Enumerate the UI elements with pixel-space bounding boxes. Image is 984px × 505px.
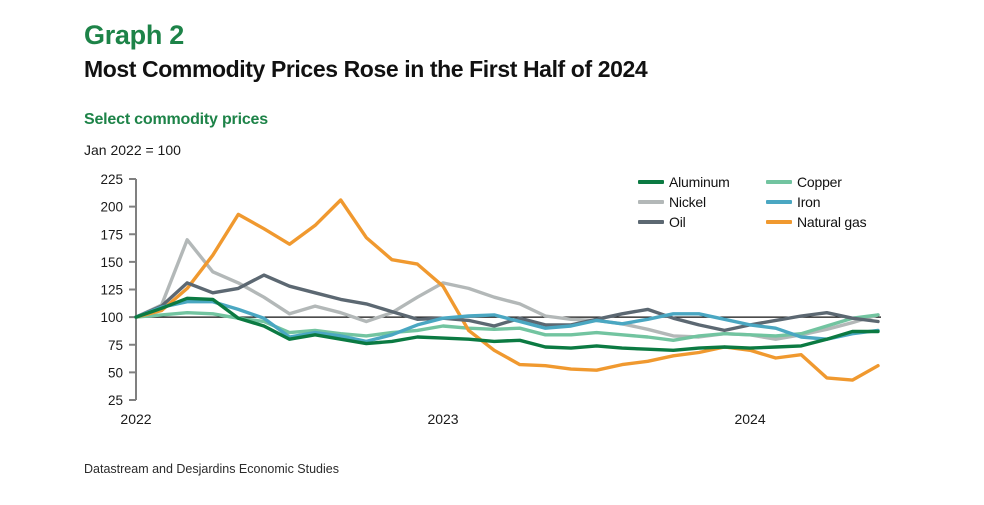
svg-text:150: 150 bbox=[100, 255, 123, 270]
legend-swatch-icon bbox=[638, 220, 664, 224]
svg-text:2024: 2024 bbox=[734, 411, 765, 427]
svg-text:100: 100 bbox=[100, 310, 123, 325]
svg-text:75: 75 bbox=[108, 338, 123, 353]
legend-swatch-icon bbox=[638, 180, 664, 184]
svg-text:200: 200 bbox=[100, 200, 123, 215]
legend-label: Copper bbox=[797, 174, 842, 190]
legend-swatch-icon bbox=[766, 220, 792, 224]
svg-text:125: 125 bbox=[100, 283, 123, 298]
legend-label: Oil bbox=[669, 214, 686, 230]
legend-swatch-icon bbox=[766, 180, 792, 184]
chart-legend: AluminumCopperNickelIronOilNatural gas bbox=[638, 172, 888, 232]
legend-item-copper[interactable]: Copper bbox=[766, 174, 878, 190]
svg-text:225: 225 bbox=[100, 172, 123, 187]
legend-item-oil[interactable]: Oil bbox=[638, 214, 750, 230]
svg-text:2022: 2022 bbox=[120, 411, 151, 427]
legend-item-iron[interactable]: Iron bbox=[766, 194, 878, 210]
legend-label: Natural gas bbox=[797, 214, 866, 230]
legend-swatch-icon bbox=[766, 200, 792, 204]
line-chart: 255075100125150175200225202220232024 bbox=[0, 0, 984, 505]
legend-label: Aluminum bbox=[669, 174, 730, 190]
legend-item-nickel[interactable]: Nickel bbox=[638, 194, 750, 210]
legend-label: Nickel bbox=[669, 194, 706, 210]
svg-text:25: 25 bbox=[108, 393, 123, 408]
chart-source-note: Datastream and Desjardins Economic Studi… bbox=[84, 462, 339, 476]
svg-text:175: 175 bbox=[100, 227, 123, 242]
legend-label: Iron bbox=[797, 194, 820, 210]
legend-swatch-icon bbox=[638, 200, 664, 204]
legend-item-aluminum[interactable]: Aluminum bbox=[638, 174, 750, 190]
svg-text:50: 50 bbox=[108, 365, 123, 380]
chart-page: Graph 2 Most Commodity Prices Rose in th… bbox=[0, 0, 984, 505]
svg-text:2023: 2023 bbox=[427, 411, 458, 427]
legend-item-natural-gas[interactable]: Natural gas bbox=[766, 214, 878, 230]
